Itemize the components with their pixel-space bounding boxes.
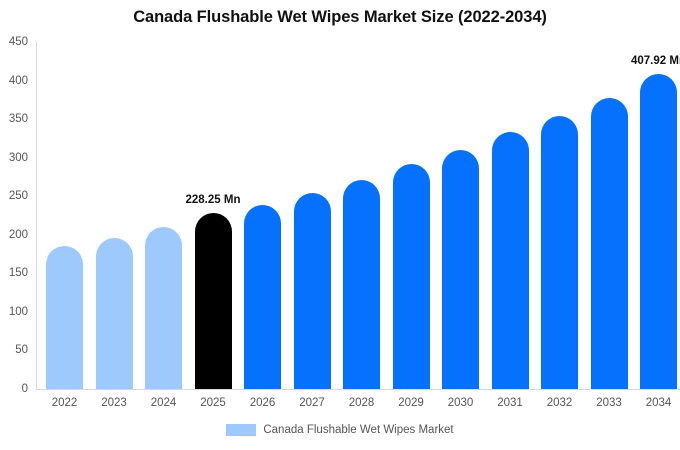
x-axis-tick-label: 2034	[629, 397, 680, 409]
bar[interactable]	[244, 205, 281, 389]
legend-label: Canada Flushable Wet Wipes Market	[263, 424, 453, 436]
y-axis-tick-label: 450	[0, 36, 28, 48]
bar-value-label: 228.25 Mn	[183, 194, 243, 206]
chart-container: Canada Flushable Wet Wipes Market Size (…	[0, 0, 680, 450]
y-axis-tick-label: 0	[0, 383, 28, 395]
bar[interactable]	[294, 193, 331, 389]
y-axis-line	[36, 42, 37, 389]
bar[interactable]	[195, 213, 232, 389]
bar[interactable]	[591, 98, 628, 389]
y-axis-tick-label: 350	[0, 113, 28, 125]
bar[interactable]	[145, 227, 182, 389]
bar[interactable]	[393, 164, 430, 389]
bar[interactable]	[492, 132, 529, 389]
y-axis-tick-label: 300	[0, 152, 28, 164]
bar-value-label: 407.92 Mn	[629, 55, 680, 67]
bar[interactable]	[46, 246, 83, 389]
plot-area: 050100150200250300350400450 202220232024…	[36, 42, 680, 389]
chart-title: Canada Flushable Wet Wipes Market Size (…	[0, 8, 680, 27]
y-axis-tick-label: 100	[0, 306, 28, 318]
bar[interactable]	[442, 150, 479, 389]
y-axis-tick-label: 150	[0, 267, 28, 279]
chart-legend: Canada Flushable Wet Wipes Market	[0, 424, 680, 436]
y-axis-tick-label: 50	[0, 344, 28, 356]
x-axis-line	[36, 389, 680, 390]
y-axis-tick-label: 400	[0, 75, 28, 87]
y-axis-tick-label: 200	[0, 229, 28, 241]
bar[interactable]	[640, 74, 677, 389]
bar[interactable]	[541, 116, 578, 389]
legend-swatch-icon	[226, 424, 256, 436]
bar[interactable]	[96, 238, 133, 389]
bar[interactable]	[343, 180, 380, 389]
y-axis-tick-label: 250	[0, 190, 28, 202]
